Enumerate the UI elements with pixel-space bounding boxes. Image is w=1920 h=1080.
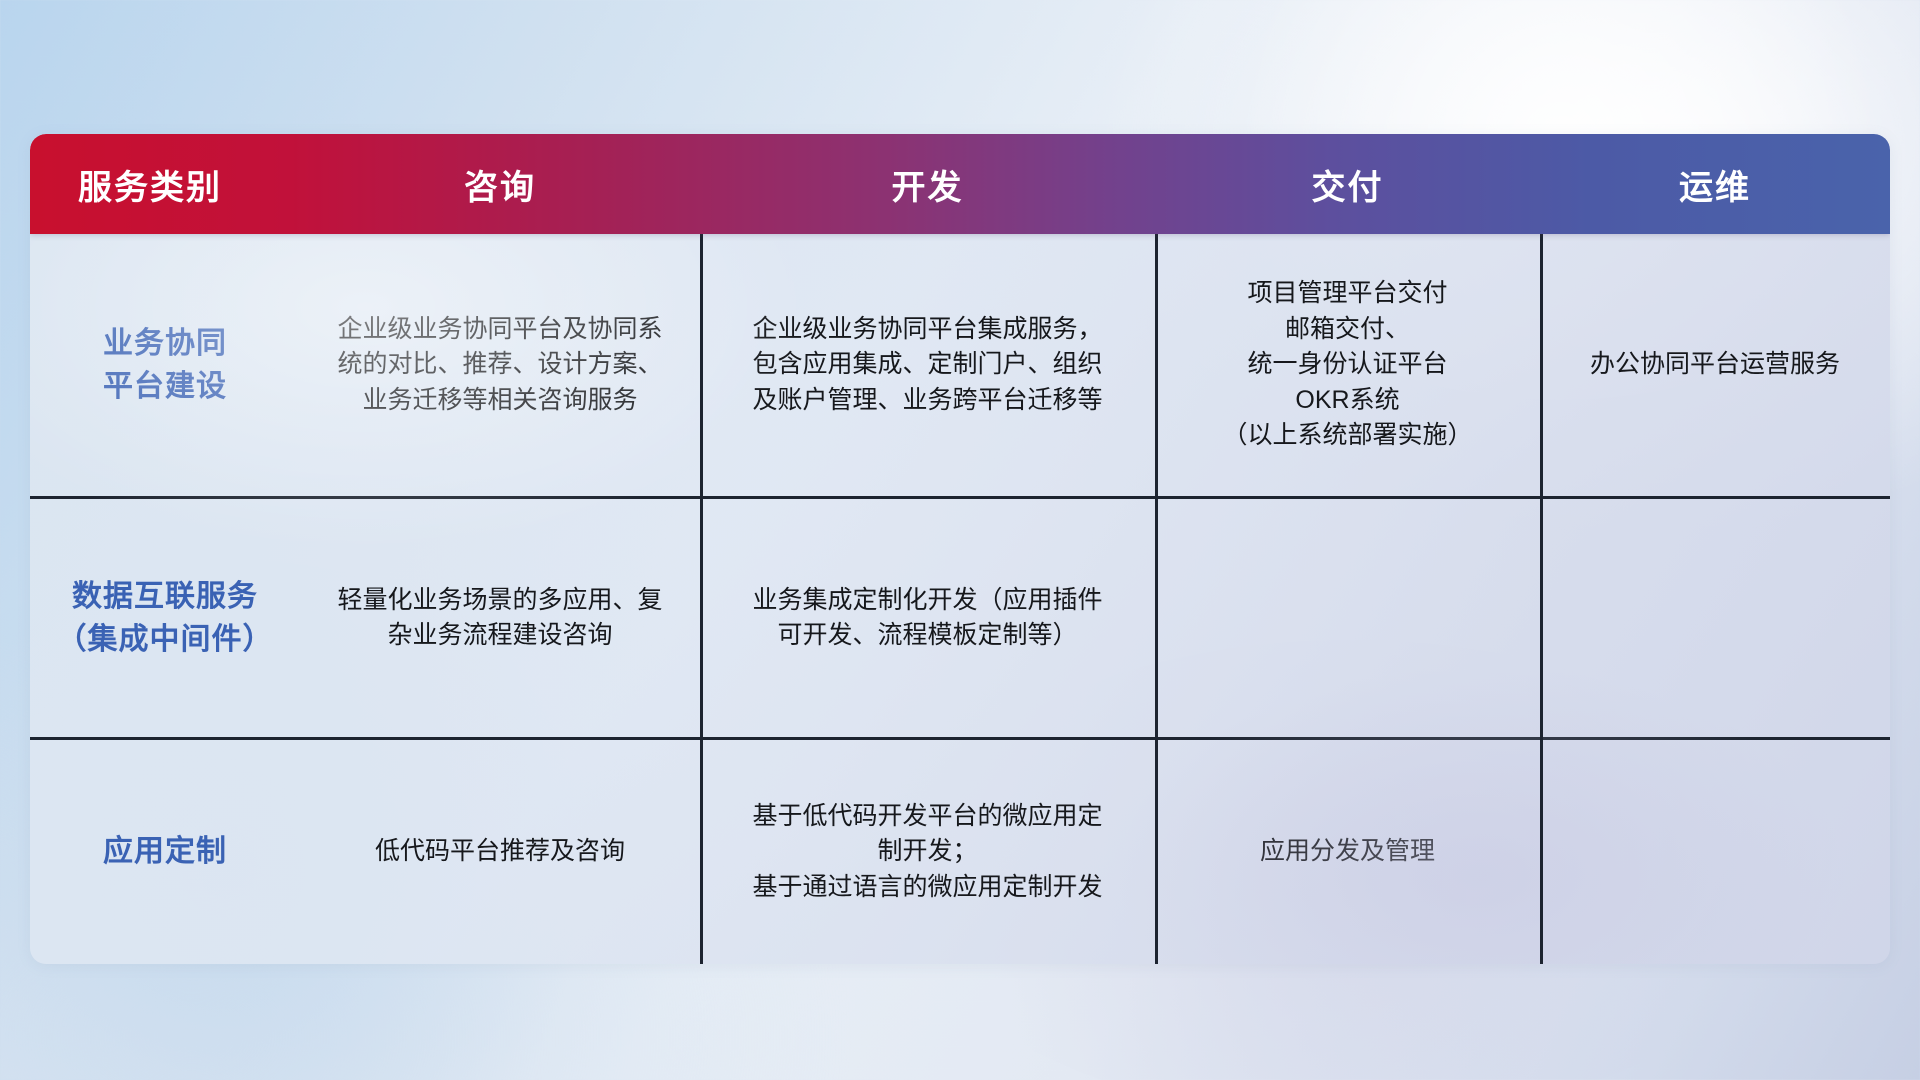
cell-consulting: 企业级业务协同平台及协同系 统的对比、推荐、设计方案、 业务迁移等相关咨询服务	[300, 234, 700, 496]
column-header-delivery: 交付	[1155, 134, 1540, 234]
row-category-label: 数据互联服务 （集成中间件）	[30, 499, 300, 737]
table-row: 业务协同 平台建设 企业级业务协同平台及协同系 统的对比、推荐、设计方案、 业务…	[30, 234, 1890, 499]
cell-delivery: 项目管理平台交付 邮箱交付、 统一身份认证平台 OKR系统 （以上系统部署实施）	[1155, 234, 1540, 496]
row-category-label: 应用定制	[30, 740, 300, 964]
column-header-development: 开发	[700, 134, 1155, 234]
cell-consulting: 轻量化业务场景的多应用、复 杂业务流程建设咨询	[300, 499, 700, 737]
column-header-consulting: 咨询	[300, 134, 700, 234]
cell-delivery	[1155, 499, 1540, 737]
column-divider-2	[1155, 234, 1158, 964]
table-header-row: 服务类别 咨询 开发 交付 运维	[30, 134, 1890, 234]
service-matrix-table-wrapper: 服务类别 咨询 开发 交付 运维 业务协同 平台建设 企业级业务协同平台及协同系…	[30, 134, 1890, 964]
cell-development: 基于低代码开发平台的微应用定 制开发； 基于通过语言的微应用定制开发	[700, 740, 1155, 964]
table-body: 业务协同 平台建设 企业级业务协同平台及协同系 统的对比、推荐、设计方案、 业务…	[30, 234, 1890, 964]
cell-operations	[1540, 499, 1890, 737]
cell-operations: 办公协同平台运营服务	[1540, 234, 1890, 496]
cell-consulting: 低代码平台推荐及咨询	[300, 740, 700, 964]
cell-development: 企业级业务协同平台集成服务， 包含应用集成、定制门户、组织 及账户管理、业务跨平…	[700, 234, 1155, 496]
column-header-operations: 运维	[1540, 134, 1890, 234]
page-root: 服务类别 咨询 开发 交付 运维 业务协同 平台建设 企业级业务协同平台及协同系…	[0, 0, 1920, 1080]
table-row: 数据互联服务 （集成中间件） 轻量化业务场景的多应用、复 杂业务流程建设咨询 业…	[30, 499, 1890, 740]
cell-operations	[1540, 740, 1890, 964]
service-matrix-table: 服务类别 咨询 开发 交付 运维 业务协同 平台建设 企业级业务协同平台及协同系…	[30, 134, 1890, 964]
cell-development: 业务集成定制化开发（应用插件 可开发、流程模板定制等）	[700, 499, 1155, 737]
cell-delivery: 应用分发及管理	[1155, 740, 1540, 964]
table-row: 应用定制 低代码平台推荐及咨询 基于低代码开发平台的微应用定 制开发； 基于通过…	[30, 740, 1890, 964]
column-divider-3	[1540, 234, 1543, 964]
row-category-label: 业务协同 平台建设	[30, 234, 300, 496]
column-header-category: 服务类别	[30, 134, 300, 234]
column-divider-1	[700, 234, 703, 964]
